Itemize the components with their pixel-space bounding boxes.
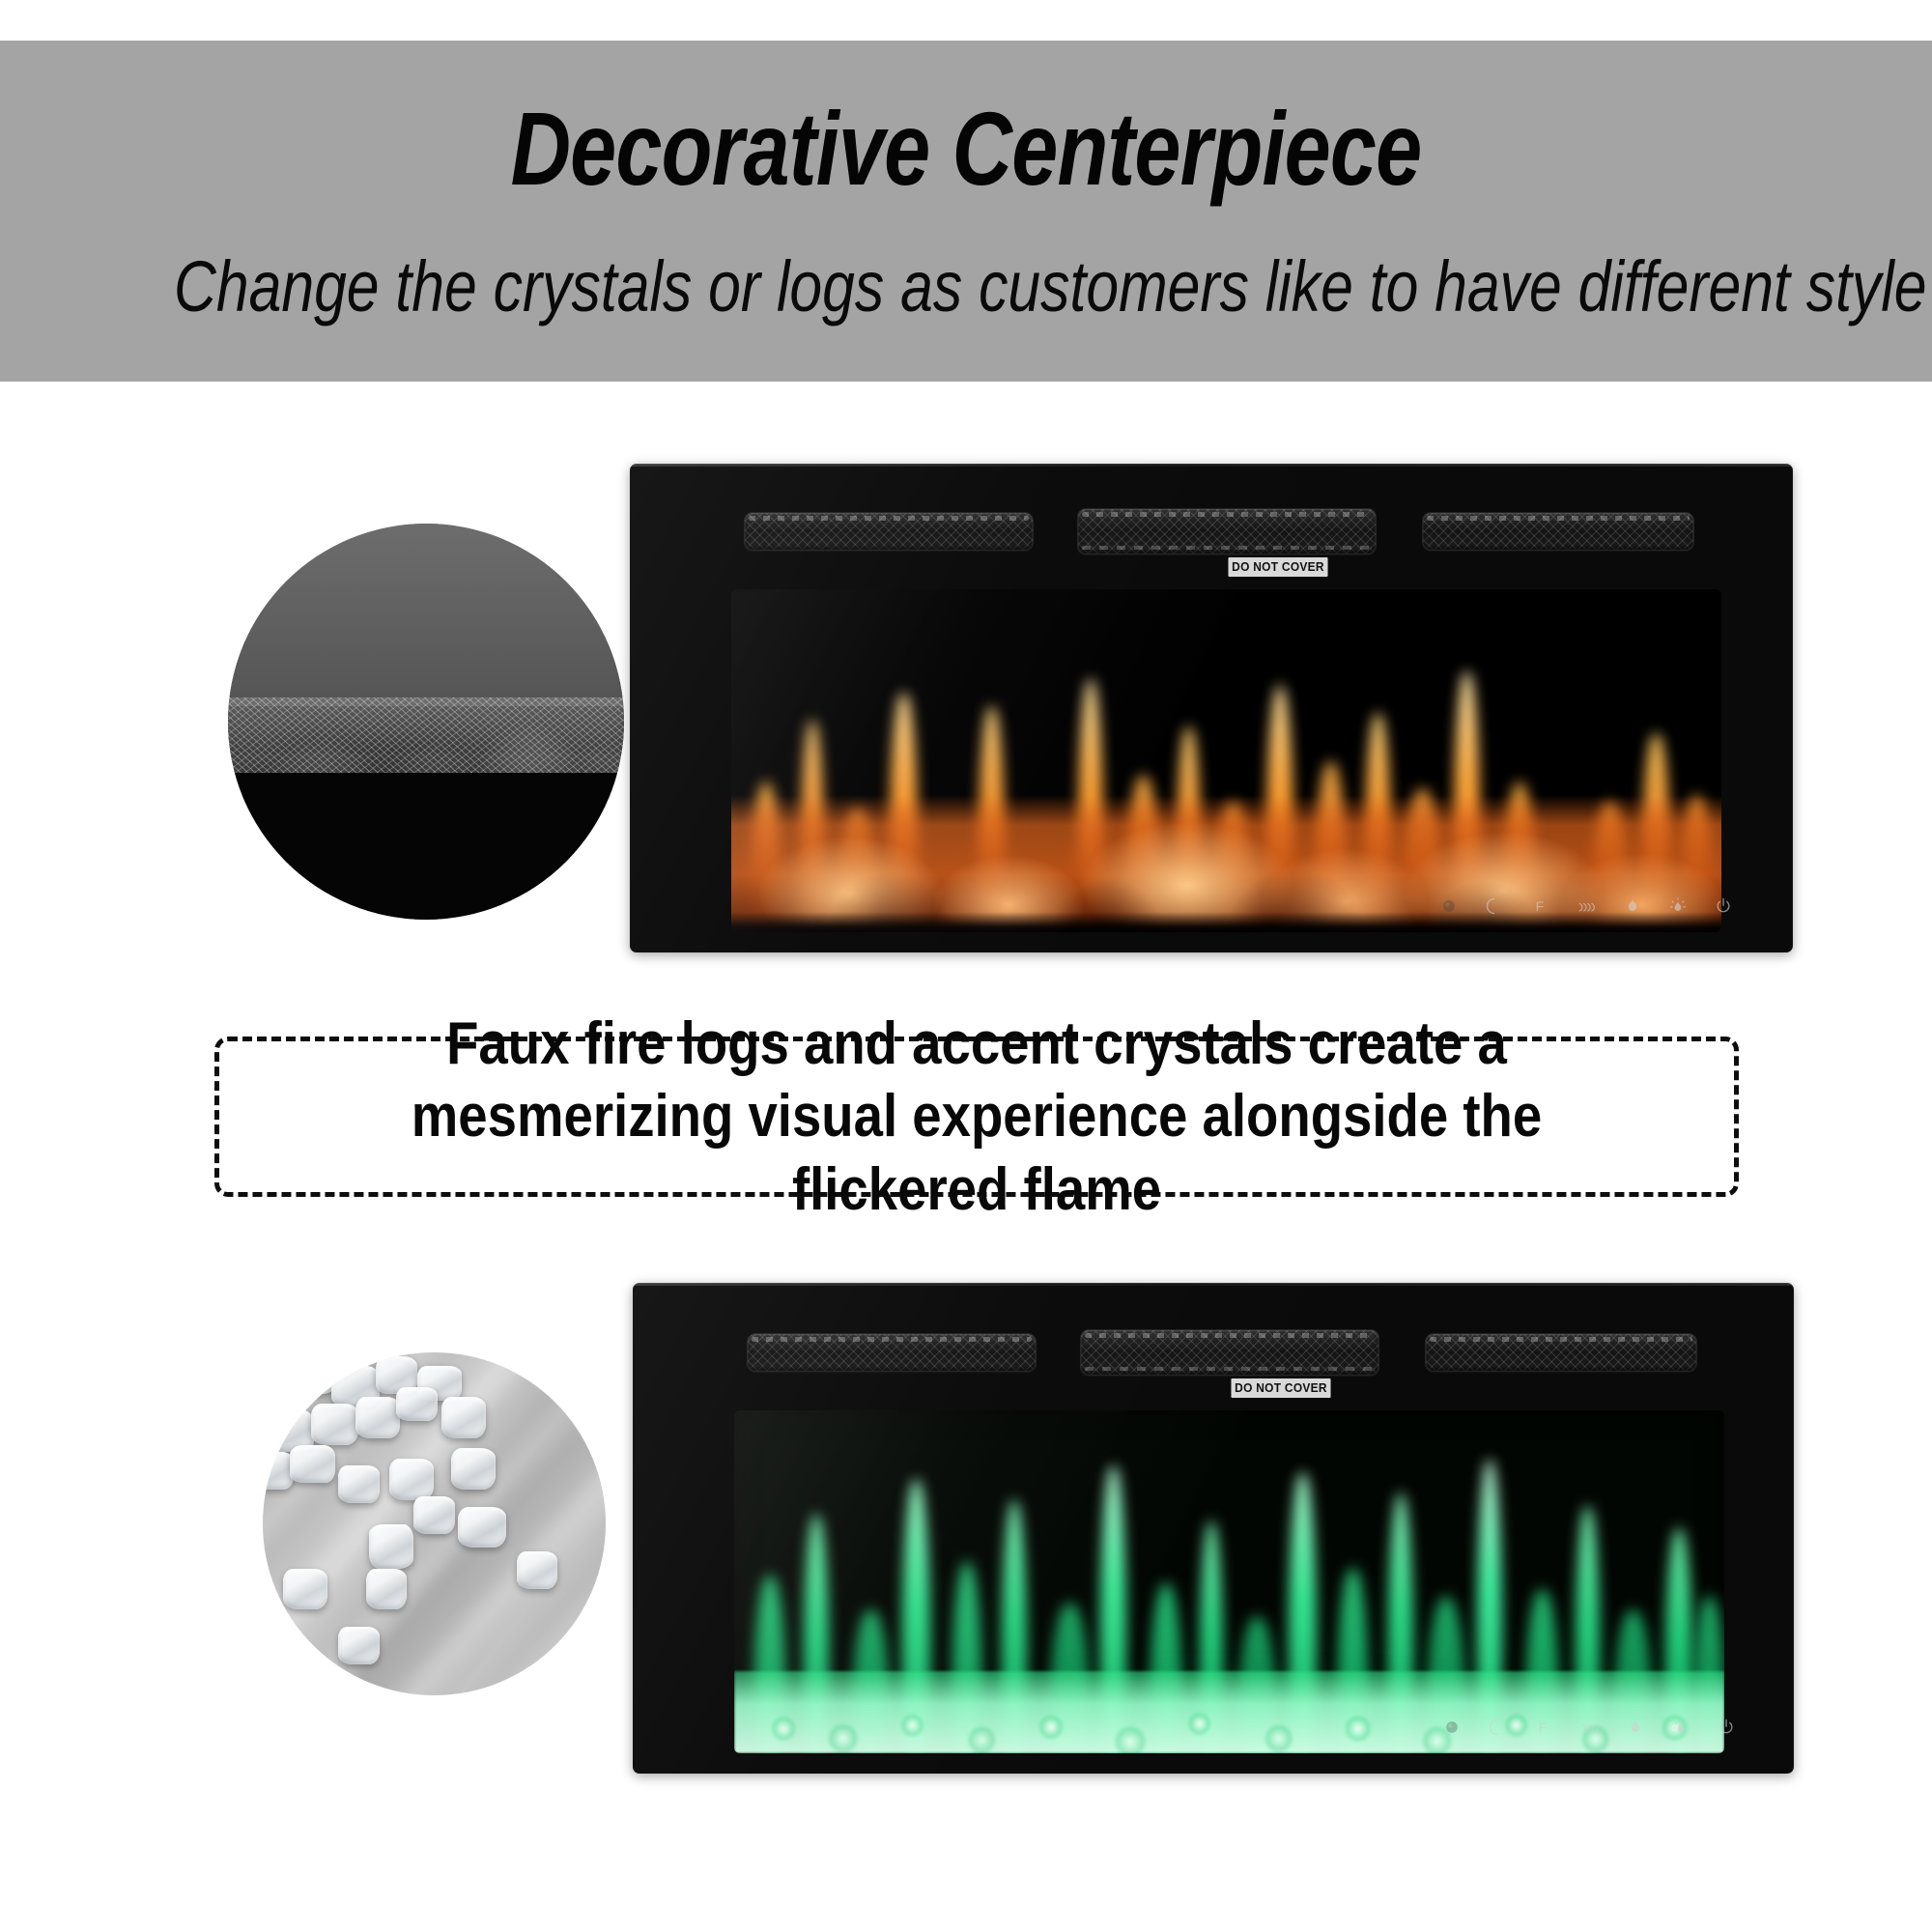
crystal bbox=[366, 1569, 408, 1610]
crystal bbox=[290, 1445, 334, 1483]
crystal bbox=[389, 1459, 434, 1500]
crystal bbox=[413, 1496, 455, 1534]
crystal bbox=[263, 1452, 294, 1490]
crystal bbox=[451, 1448, 496, 1490]
center-vent bbox=[1077, 508, 1377, 554]
header-banner: Decorative Centerpiece Change the crysta… bbox=[0, 41, 1932, 382]
sensor-icon bbox=[1439, 896, 1459, 916]
do-not-cover-label: DO NOT COVER bbox=[1228, 557, 1327, 577]
right-vent bbox=[1422, 512, 1694, 551]
crystal bbox=[283, 1569, 327, 1610]
crescent-moon-icon[interactable] bbox=[1488, 1718, 1507, 1737]
crystal bbox=[338, 1627, 380, 1664]
power-icon[interactable] bbox=[1717, 1718, 1736, 1737]
crystal bbox=[338, 1465, 380, 1503]
flame-adjust-icon[interactable] bbox=[1671, 1718, 1690, 1737]
crystal bbox=[517, 1551, 558, 1589]
left-vent bbox=[747, 1333, 1037, 1372]
crystal bbox=[294, 1359, 335, 1394]
page-title: Decorative Centerpiece bbox=[193, 97, 1739, 201]
control-panel-crystals[interactable]: F bbox=[1442, 1718, 1736, 1737]
power-icon[interactable] bbox=[1714, 896, 1733, 916]
callout-text: Faux fire logs and accent crystals creat… bbox=[310, 1008, 1643, 1227]
crystal bbox=[355, 1397, 400, 1438]
inset-logs-image bbox=[228, 524, 624, 920]
crystal bbox=[369, 1524, 413, 1569]
crystal-bed bbox=[734, 1671, 1724, 1753]
callout-box: Faux fire logs and accent crystals creat… bbox=[214, 1037, 1739, 1197]
inset-crystals-image bbox=[263, 1352, 606, 1695]
firebox-window-crystals bbox=[734, 1410, 1724, 1753]
control-panel-logs-row[interactable]: F bbox=[1439, 896, 1733, 916]
fireplace-unit-logs[interactable]: DO NOT COVER bbox=[630, 464, 1793, 952]
fahrenheit-icon[interactable]: F bbox=[1533, 1718, 1552, 1737]
inset-logs-floor bbox=[228, 773, 624, 920]
bezel-highlight bbox=[633, 1283, 1794, 1286]
heat-waves-icon[interactable] bbox=[1576, 896, 1597, 916]
flame-icon[interactable] bbox=[1626, 1718, 1645, 1737]
firebox-window-logs bbox=[731, 589, 1721, 932]
sensor-icon bbox=[1442, 1718, 1462, 1737]
crystal bbox=[441, 1397, 486, 1438]
svg-text:F: F bbox=[1536, 899, 1545, 915]
do-not-cover-label: DO NOT COVER bbox=[1231, 1378, 1330, 1398]
flame-icon[interactable] bbox=[1623, 896, 1642, 916]
heat-waves-icon[interactable] bbox=[1578, 1718, 1600, 1737]
flame-adjust-icon[interactable] bbox=[1668, 896, 1688, 916]
fahrenheit-icon[interactable]: F bbox=[1530, 896, 1549, 916]
fireplace-unit-crystals[interactable]: DO NOT COVER F bbox=[633, 1283, 1794, 1774]
page-subtitle: Change the crystals or logs as customers… bbox=[174, 251, 1758, 323]
right-vent bbox=[1425, 1333, 1697, 1372]
bezel-highlight bbox=[630, 464, 1793, 467]
crystal bbox=[396, 1387, 438, 1422]
crescent-moon-icon[interactable] bbox=[1485, 896, 1504, 916]
crystal bbox=[311, 1404, 359, 1445]
left-vent bbox=[744, 512, 1034, 551]
svg-text:F: F bbox=[1539, 1720, 1548, 1736]
center-vent bbox=[1080, 1329, 1379, 1376]
crystal bbox=[458, 1507, 506, 1548]
